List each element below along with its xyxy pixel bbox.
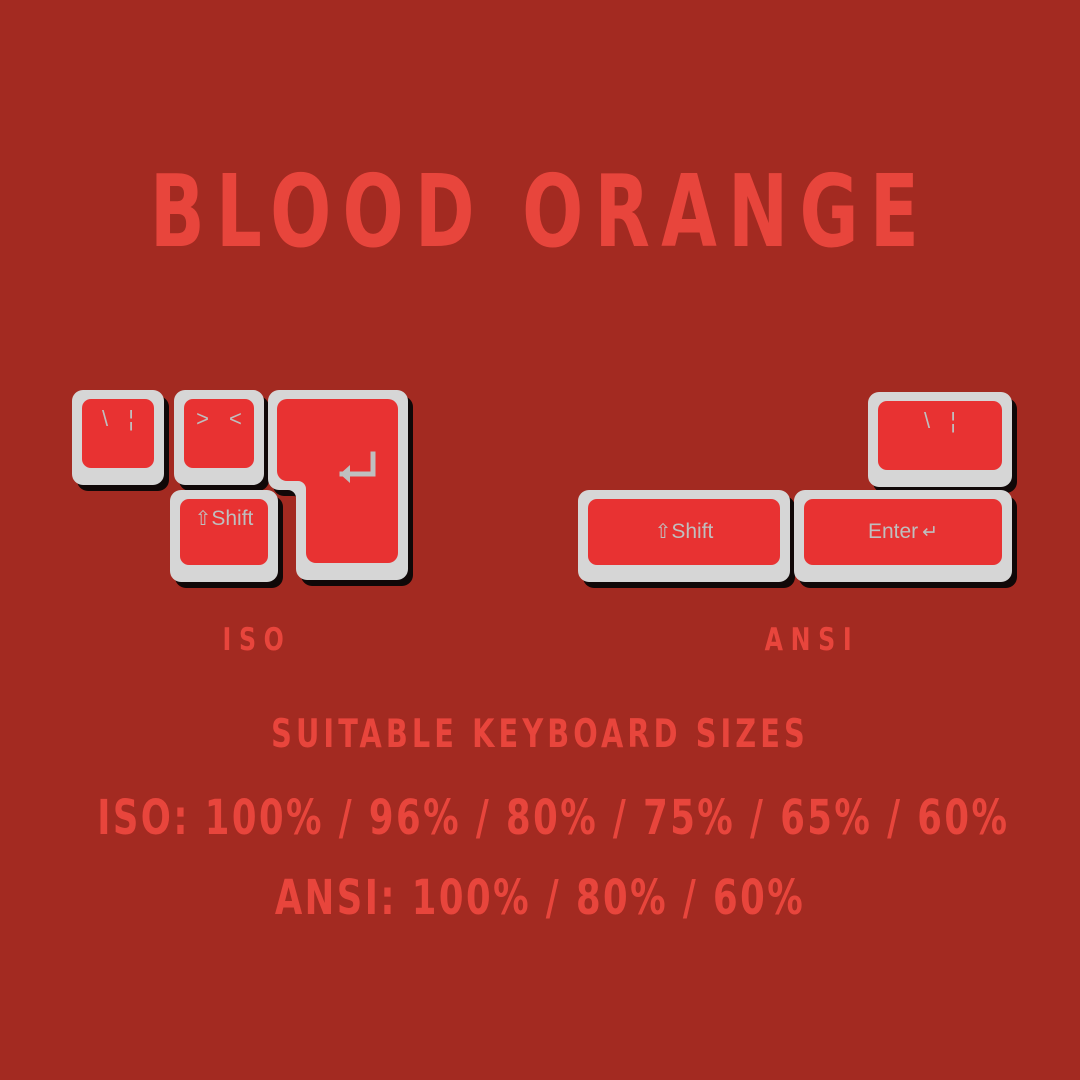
ansi-group-caption: ANSI <box>727 622 897 658</box>
ansi-shift-key[interactable]: ⇧Shift <box>578 490 790 582</box>
iso-backslash-pipe-key[interactable]: \ ¦ <box>72 390 164 485</box>
ansi-enter-key[interactable]: Enter↵ <box>794 490 1012 582</box>
shift-up-arrow-icon: ⇧ <box>655 521 672 543</box>
keycap-face: Enter↵ <box>804 499 1002 565</box>
iso-angle-bracket-key[interactable]: > < <box>174 390 264 485</box>
iso-backslash-pipe-legend: \ ¦ <box>95 408 141 430</box>
ansi-backslash-pipe-key[interactable]: \ ¦ <box>868 392 1012 487</box>
ansi-enter-legend: Enter↵ <box>868 521 938 544</box>
keycap-face: > < <box>184 399 254 468</box>
keycap-face: \ ¦ <box>82 399 154 468</box>
iso-group-caption: ISO <box>172 622 342 658</box>
shift-up-arrow-icon: ⇧ <box>195 508 212 530</box>
iso-shift-key[interactable]: ⇧Shift <box>170 490 278 582</box>
ansi-shift-legend: ⇧Shift <box>655 521 714 543</box>
keycap-face <box>277 399 398 563</box>
keycap-face: \ ¦ <box>878 401 1002 470</box>
ansi-sizes-line: ANSI: 100% / 80% / 60% <box>97 870 983 926</box>
iso-enter-key[interactable] <box>268 390 408 580</box>
iso-shift-legend: ⇧Shift <box>195 508 254 530</box>
iso-sizes-line: ISO: 100% / 96% / 80% / 75% / 65% / 60% <box>97 790 983 846</box>
ansi-backslash-pipe-legend: \ ¦ <box>917 410 963 432</box>
ansi-shift-text: Shift <box>671 520 713 543</box>
iso-shift-text: Shift <box>211 507 253 530</box>
enter-return-arrow-icon: ↵ <box>918 522 938 543</box>
suitable-sizes-heading: SUITABLE KEYBOARD SIZES <box>97 712 983 757</box>
ansi-enter-text: Enter <box>868 520 918 543</box>
keycap-face: ⇧Shift <box>588 499 780 565</box>
iso-angle-bracket-legend: > < <box>189 408 249 430</box>
keycap-face: ⇧Shift <box>180 499 268 565</box>
